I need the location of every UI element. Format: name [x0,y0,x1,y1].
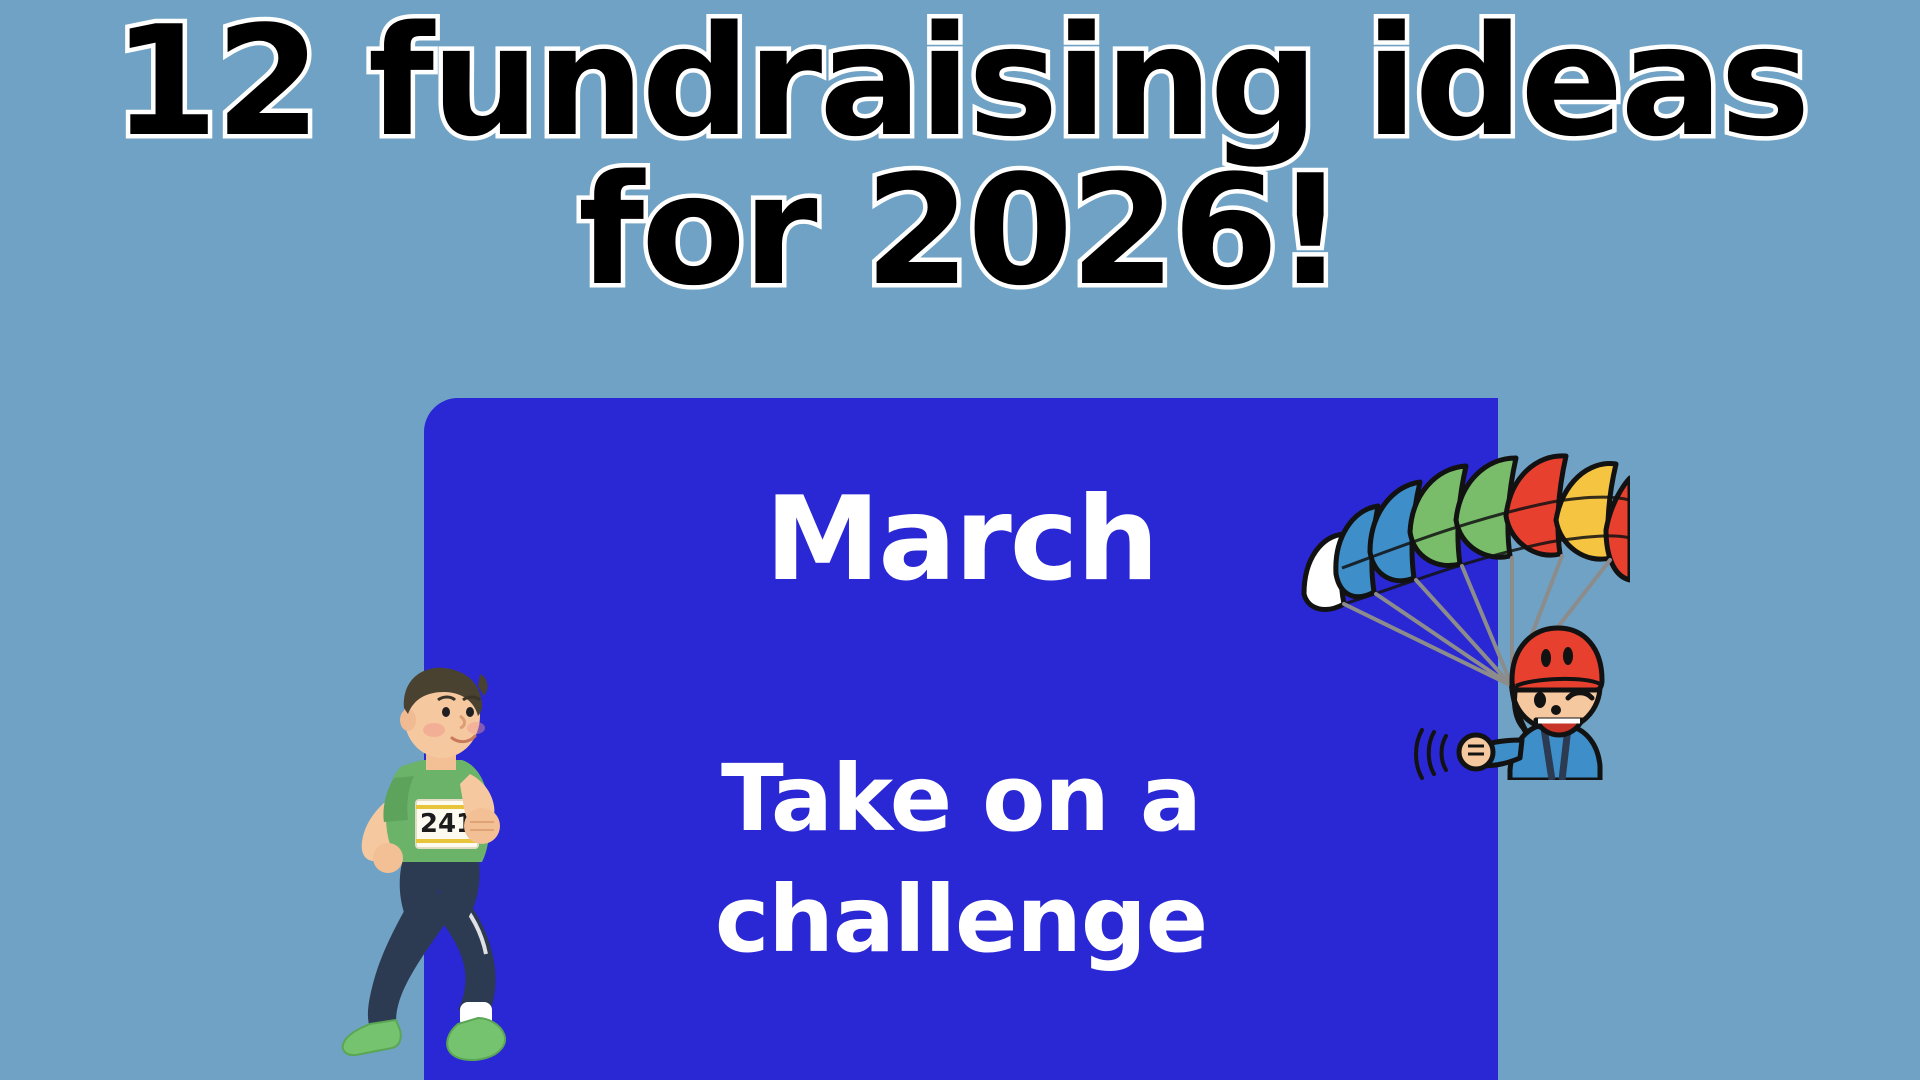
runner-illustration: 241 [330,650,570,1080]
runner-cheek-left [423,723,445,737]
helmet-vent-right [1563,647,1573,665]
headline-line-1: 12 fundraising ideas [0,8,1920,157]
runner-hand [373,843,403,873]
headline-line-2: for 2026! [0,157,1920,306]
motion-lines-icon [1416,730,1446,778]
runner-eye-left [442,707,450,717]
runner-fist [464,808,500,844]
skydiver-nose [1551,705,1561,715]
runner-bib-stripe-bottom [416,839,478,843]
runner-eye-right [466,707,474,717]
skydiver-illustration [1300,380,1630,780]
page-title: 12 fundraising ideas for 2026! [0,8,1920,306]
skydiver-eye-left [1534,692,1546,708]
runner-back-shoe [343,1020,401,1055]
fundraising-poster: 12 fundraising ideas for 2026! March Tak… [0,0,1920,1080]
runner-cheek-right [467,722,485,734]
helmet-vent-left [1541,649,1551,667]
parachute-canopy [1304,456,1630,610]
card-subtitle-line-2: challenge [424,859,1498,980]
runner-front-shoe [447,1018,505,1060]
skydiver-left-fist [1459,735,1493,769]
